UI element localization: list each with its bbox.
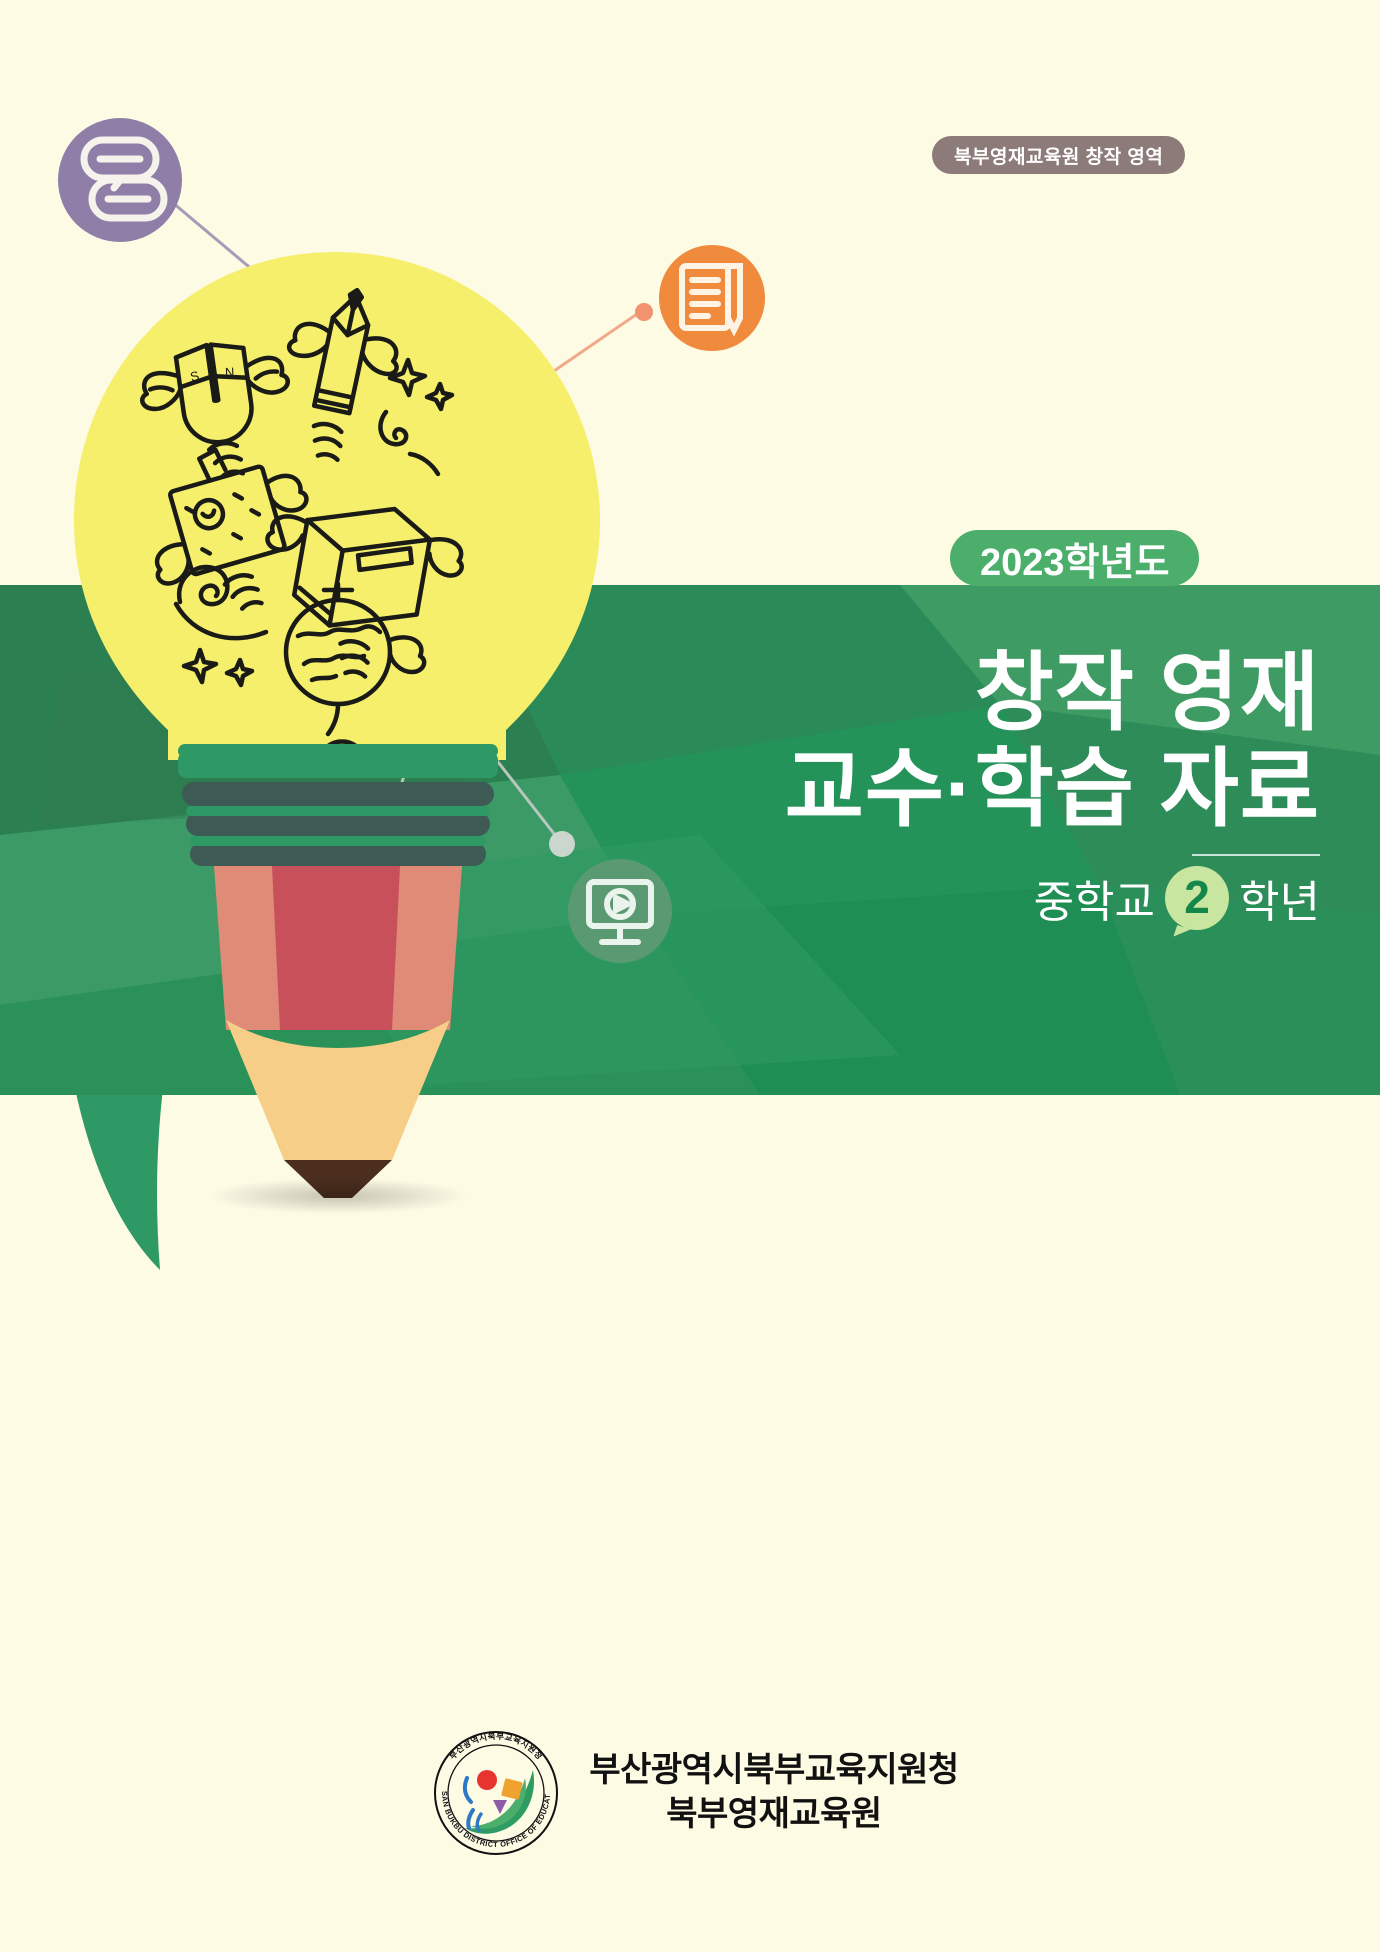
cover-page: S N <box>0 0 1380 1952</box>
logo-ring-text-ko: 부산광역시북부교육지원청 <box>447 1731 545 1761</box>
grade-subtitle: 중학교 2 학년 <box>785 866 1320 930</box>
subtitle-prefix: 중학교 <box>1034 866 1155 930</box>
video-monitor-icon <box>568 859 672 963</box>
footer: 부산광역시북부교육지원청 BUSAN BUKBU DISTRICT OFFICE… <box>0 1718 1380 1868</box>
title-line-2: 교수·학습 자료 <box>785 741 1320 837</box>
grade-bubble: 2 <box>1165 866 1229 930</box>
organization-logo: 부산광역시북부교육지원청 BUSAN BUKBU DISTRICT OFFICE… <box>421 1718 571 1868</box>
footer-org-line-2: 북부영재교육원 <box>589 1793 958 1837</box>
document-icon <box>659 245 765 351</box>
logo-purple-triangle <box>493 1800 507 1814</box>
title-line-1: 창작 영재 <box>785 645 1320 741</box>
title-divider <box>1192 854 1320 856</box>
logo-red-dot <box>477 1770 497 1790</box>
title-block: 창작 영재 교수·학습 자료 중학교 2 학년 <box>785 645 1320 930</box>
grade-number: 2 <box>1184 874 1210 920</box>
footer-org-text: 부산광역시북부교육지원청 북부영재교육원 <box>589 1749 958 1836</box>
icon-badges <box>0 0 1380 1952</box>
subtitle-suffix: 학년 <box>1239 866 1320 930</box>
svg-text:부산광역시북부교육지원청: 부산광역시북부교육지원청 <box>447 1731 545 1761</box>
footer-org-line-1: 부산광역시북부교육지원청 <box>589 1749 958 1793</box>
year-badge: 2023학년도 <box>950 530 1199 586</box>
chat-bubbles-icon <box>58 118 182 242</box>
